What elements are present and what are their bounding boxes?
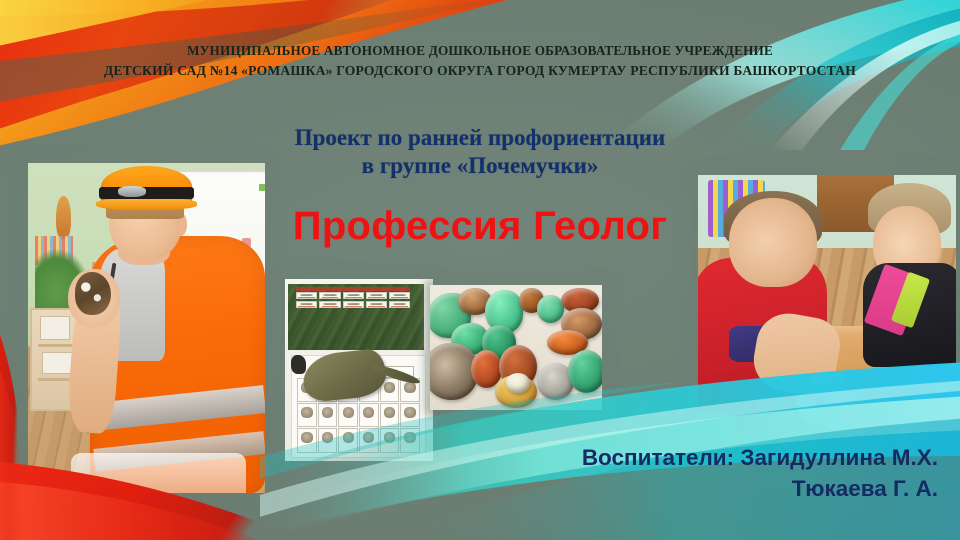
project-subtitle-line1: Проект по ранней профориентации (0, 124, 960, 152)
presentation-slide: МУНИЦИПАЛЬНОЕ АВТОНОМНОЕ ДОШКОЛЬНОЕ ОБРА… (0, 0, 960, 540)
authors-line2: Тюкаева Г. А. (582, 473, 938, 504)
page-title: Профессия Геолог (0, 203, 960, 249)
project-subtitle-line2: в группе «Почемучки» (0, 152, 960, 180)
authors-block: Воспитатели: Загидуллина М.Х. Тюкаева Г.… (582, 442, 938, 504)
authors-line1: Воспитатели: Загидуллина М.Х. (582, 442, 938, 473)
project-subtitle: Проект по ранней профориентации в группе… (0, 124, 960, 180)
red-ribbon-bottom-left (0, 230, 280, 540)
